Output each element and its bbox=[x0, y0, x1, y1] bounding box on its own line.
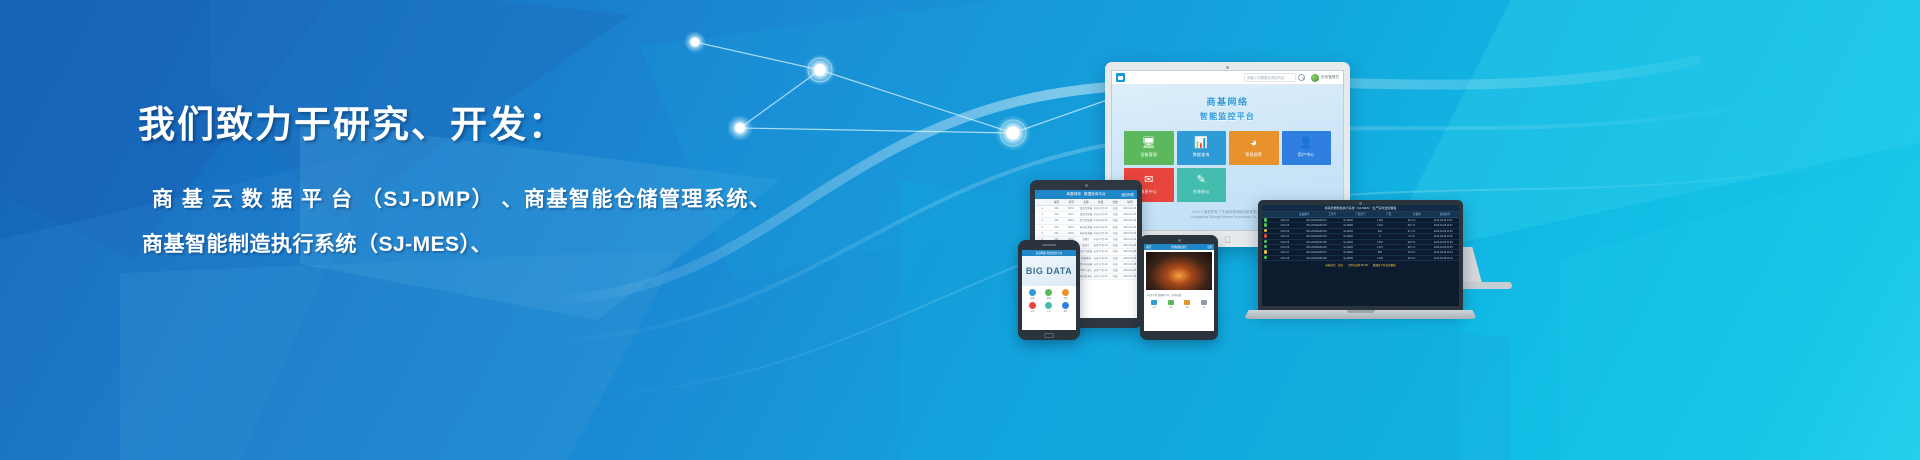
table-cell: 2016-04-28 11:24 bbox=[1427, 256, 1459, 260]
search-area[interactable]: 请输入您需要查询的内容 bbox=[1244, 73, 1305, 82]
table-cell: 电压监测器 bbox=[1079, 231, 1094, 236]
speaker-icon bbox=[1042, 244, 1056, 246]
app-icon-label: 消息 bbox=[1030, 310, 1034, 313]
table-cell: 2016-04-28 11:26 bbox=[1122, 225, 1137, 230]
table-cell: 99.2 % bbox=[1396, 218, 1428, 222]
column-header: 位置 bbox=[1093, 199, 1108, 205]
table-cell: 2016-04-28 11:25 bbox=[1427, 240, 1459, 244]
app-icon-user-icon[interactable]: 我的 bbox=[1058, 302, 1073, 313]
table-cell: MKC-201A01 bbox=[1064, 206, 1079, 211]
bell-icon bbox=[1062, 289, 1069, 296]
bell-icon bbox=[1184, 300, 1190, 305]
table-cell: 99.6 % bbox=[1396, 240, 1428, 244]
table-cell bbox=[1262, 240, 1269, 244]
laptop-mockup: 商基智能制造执行系统（SJ-MES） 生产实时监控看板 设备编号工单号产品型号产… bbox=[1258, 200, 1463, 325]
home-button-icon[interactable] bbox=[1044, 333, 1054, 338]
table-cell: 车间 B 区-02 bbox=[1093, 225, 1108, 230]
table-cell: 2016-04-28 11:25 bbox=[1122, 243, 1137, 248]
camera-icon bbox=[1226, 66, 1229, 69]
table-cell: 201-2016042802 bbox=[1050, 212, 1065, 217]
table-cell: 1,045 bbox=[1364, 256, 1396, 260]
table-cell: 1,164 bbox=[1364, 223, 1396, 227]
table-cell: 98.7 % bbox=[1396, 223, 1428, 227]
chart-icon bbox=[1045, 289, 1052, 296]
camera-icon bbox=[1178, 239, 1181, 242]
tile-label: 消息中心 bbox=[1140, 189, 1157, 195]
table-cell: 在线 bbox=[1108, 274, 1123, 279]
table-cell: 806 bbox=[1364, 250, 1396, 254]
table-cell: SJ-M420 bbox=[1332, 240, 1364, 244]
table-cell: 2016-04-28 11:24 bbox=[1122, 249, 1137, 254]
table-cell: WO-20160428-006 bbox=[1301, 245, 1333, 249]
table-cell: 在线 bbox=[1108, 268, 1123, 273]
table-cell: 在线 bbox=[1108, 237, 1123, 242]
table-cell: CNC-04 bbox=[1269, 234, 1301, 238]
tile-device-management[interactable]: 🖥 设备管理 bbox=[1124, 131, 1174, 165]
table-cell: 称重模块 bbox=[1079, 256, 1094, 261]
gear-icon bbox=[1201, 300, 1207, 305]
table-cell: 仓库 D 区-02 bbox=[1093, 249, 1108, 254]
table-cell: 2016-04-28 11:25 bbox=[1427, 245, 1459, 249]
table-cell: 4 bbox=[1035, 225, 1050, 230]
table-cell: 车间 A 区-02 bbox=[1093, 212, 1108, 217]
device-mockups: 请输入您需要查询的内容 系统管理员 商基网络 智能监控平台 🖥 设备管理 bbox=[1000, 0, 1920, 460]
table-cell: 0 bbox=[1364, 234, 1396, 238]
table-cell: 在线 bbox=[1108, 256, 1123, 261]
table-cell: 2016-04-28 11:24 bbox=[1122, 256, 1137, 261]
table-cell: 2016-04-28 11:23 bbox=[1122, 268, 1137, 273]
hero-banner: 我们致力于研究、开发： 商 基 云 数 据 平 台 （SJ-DMP） 、商基智能… bbox=[0, 0, 1920, 460]
app-title-line1: 商基网络 bbox=[1124, 95, 1331, 108]
table-cell: CNC-06 bbox=[1269, 245, 1301, 249]
tile-online-office[interactable]: ✎ 在线办公 bbox=[1177, 168, 1227, 202]
app-icon-play-icon[interactable]: 回放 bbox=[1163, 300, 1178, 309]
table-cell: WO-20160428-003 bbox=[1301, 229, 1333, 233]
column-header: 合格率 bbox=[1403, 212, 1431, 217]
table-cell: MKC-201A03 bbox=[1064, 218, 1079, 223]
table-cell: 2016-04-28 11:22 bbox=[1122, 274, 1137, 279]
table-cell: 1,337 bbox=[1364, 245, 1396, 249]
column-header: 编号 bbox=[1050, 199, 1065, 205]
table-cell bbox=[1262, 256, 1269, 260]
banner-copy: 我们致力于研究、开发： 商 基 云 数 据 平 台 （SJ-DMP） 、商基智能… bbox=[0, 0, 960, 460]
table-cell: 离线 bbox=[1108, 225, 1123, 230]
column-header: 名称 bbox=[1079, 199, 1094, 205]
pie-chart-icon: ◕ bbox=[1250, 138, 1257, 149]
table-cell: 2016-04-28 11:27 bbox=[1427, 218, 1459, 222]
table-cell: 车间 C 区-02 bbox=[1093, 237, 1108, 242]
table-cell: 在线 bbox=[1108, 262, 1123, 267]
table-cell: 2 bbox=[1035, 212, 1050, 217]
table-cell: 压力传感器 bbox=[1079, 218, 1094, 223]
user-name: 系统管理员 bbox=[1321, 75, 1339, 80]
app-tile-grid-row1: 🖥 设备管理 📊 数据查询 ◕ 警报报警 👤 bbox=[1124, 131, 1331, 165]
table-cell: 5 bbox=[1035, 231, 1050, 236]
column-header bbox=[1035, 199, 1050, 205]
table-cell: CNC-02 bbox=[1269, 223, 1301, 227]
grid-icon[interactable] bbox=[1116, 73, 1125, 82]
column-header: 时间 bbox=[1122, 199, 1137, 205]
table-cell: 流量计 bbox=[1079, 237, 1094, 242]
app-icon-label: 数据 bbox=[1047, 297, 1051, 300]
table-cell: MKC-201A05 bbox=[1064, 231, 1079, 236]
table-cell: WO-20160428-008 bbox=[1301, 256, 1333, 260]
app-icon-bell-icon[interactable]: 警报 bbox=[1058, 289, 1073, 300]
table-cell: 环境监测仪 bbox=[1079, 274, 1094, 279]
table-cell: 1,280 bbox=[1364, 218, 1396, 222]
table-cell: SJ-M420 bbox=[1332, 245, 1364, 249]
table-cell bbox=[1262, 245, 1269, 249]
envelope-icon: ✉ bbox=[1144, 175, 1153, 186]
table-cell: 96.8 % bbox=[1396, 250, 1428, 254]
monitor-icon bbox=[1029, 289, 1036, 296]
table-cell: CNC-01 bbox=[1269, 218, 1301, 222]
table-cell bbox=[1262, 223, 1269, 227]
app-icon-label: 办公 bbox=[1047, 310, 1051, 313]
table-cell: CNC-05 bbox=[1269, 240, 1301, 244]
table-cell: 在线 bbox=[1108, 206, 1123, 211]
app-icon-label: 监控 bbox=[1153, 306, 1157, 309]
table-cell: 2016-04-28 11:25 bbox=[1122, 237, 1137, 242]
table-cell: MKC-201A02 bbox=[1064, 212, 1079, 217]
tile-user-center[interactable]: 👤 用户中心 bbox=[1282, 131, 1332, 165]
table-cell: 1,502 bbox=[1364, 240, 1396, 244]
tablet-titlebar: 商基网络 · 数据查询平台 返回列表 bbox=[1035, 190, 1137, 199]
table-cell: CNC-08 bbox=[1269, 256, 1301, 260]
status-badge bbox=[1264, 234, 1268, 238]
table-cell bbox=[1262, 250, 1269, 254]
user-icon: 👤 bbox=[1299, 138, 1313, 149]
table-cell: 车间 C 区-01 bbox=[1093, 231, 1108, 236]
webapp-header: 请输入您需要查询的内容 系统管理员 bbox=[1112, 71, 1343, 85]
product-line-1: 商 基 云 数 据 平 台 （SJ-DMP） 、商基智能仓储管理系统、 bbox=[152, 183, 772, 213]
tile-alarm[interactable]: ◕ 警报报警 bbox=[1229, 131, 1279, 165]
table-cell bbox=[1262, 229, 1269, 233]
table-cell: SJ-M200 bbox=[1332, 218, 1364, 222]
chart-bar-icon: 📊 bbox=[1194, 138, 1208, 149]
table-cell: SJ-M500 bbox=[1332, 250, 1364, 254]
table-cell: 201-2016042805 bbox=[1050, 231, 1065, 236]
edit-icon: ✎ bbox=[1197, 175, 1206, 186]
monitor-icon: 🖥 bbox=[1142, 138, 1156, 149]
video-titlebar: 返回 现场视频监控 全屏 bbox=[1144, 244, 1214, 250]
table-cell: 仓库 E 区-02 bbox=[1093, 262, 1108, 267]
table-cell: SJ-M500 bbox=[1332, 256, 1364, 260]
phone-hero: BIG DATA bbox=[1022, 256, 1076, 286]
app-icon-monitor-icon[interactable]: 设备 bbox=[1025, 289, 1040, 300]
table-cell: 仓库 F 区-02 bbox=[1093, 274, 1108, 279]
table-cell: 2016-04-28 11:26 bbox=[1122, 231, 1137, 236]
product-line-2: 商基智能制造执行系统（SJ-MES）、 bbox=[142, 228, 492, 258]
mes-titlebar: 商基智能制造执行系统（SJ-MES） 生产实时监控看板 bbox=[1262, 205, 1459, 212]
table-cell: 车间 B 区-01 bbox=[1093, 218, 1108, 223]
table-cell: SJ-M200 bbox=[1332, 223, 1364, 227]
table-cell: 2016-04-28 11:27 bbox=[1122, 218, 1137, 223]
back-button[interactable]: 返回列表 bbox=[1121, 192, 1134, 197]
app-icon-label: 我的 bbox=[1064, 310, 1068, 313]
tile-label: 警报报警 bbox=[1245, 152, 1262, 158]
table-cell: 在线 bbox=[1108, 218, 1123, 223]
phone-app-grid: 设备数据警报消息办公我的 bbox=[1022, 286, 1076, 316]
tablet-video-screen: 返回 现场视频监控 全屏 车间 A 区 摄像机 01 · 实时画面 监控回放报警… bbox=[1144, 244, 1214, 331]
user-icon bbox=[1062, 302, 1069, 309]
edit-icon bbox=[1045, 302, 1052, 309]
column-header bbox=[1262, 212, 1290, 217]
tile-label: 在线办公 bbox=[1193, 189, 1210, 195]
search-icon[interactable] bbox=[1298, 74, 1305, 81]
status-badge bbox=[1264, 256, 1268, 260]
table-cell: 2016-04-28 11:26 bbox=[1427, 229, 1459, 233]
status-badge bbox=[1264, 250, 1268, 254]
app-icon-bell-icon[interactable]: 报警 bbox=[1180, 300, 1195, 309]
tablet-video-mockup: 返回 现场视频监控 全屏 车间 A 区 摄像机 01 · 实时画面 监控回放报警… bbox=[1140, 235, 1218, 340]
table-cell: WO-20160428-007 bbox=[1301, 250, 1333, 254]
tile-label: 设备管理 bbox=[1140, 152, 1157, 158]
column-header: 设备编号 bbox=[1290, 212, 1318, 217]
play-icon bbox=[1168, 300, 1174, 305]
app-icon-label: 报警 bbox=[1185, 306, 1189, 309]
table-cell: 温度传感器 bbox=[1079, 206, 1094, 211]
avatar bbox=[1311, 74, 1319, 82]
phone-screen: 商基网络 智能监控平台 BIG DATA 设备数据警报消息办公我的 bbox=[1022, 250, 1076, 330]
table-cell: SJ-M310 bbox=[1332, 234, 1364, 238]
table-cell: WO-20160428-004 bbox=[1301, 234, 1333, 238]
table-cell: WO-20160428-002 bbox=[1301, 223, 1333, 227]
laptop-trackpad-notch bbox=[1347, 310, 1375, 313]
column-header: 工单号 bbox=[1318, 212, 1346, 217]
table-cell: 942 bbox=[1364, 229, 1396, 233]
envelope-icon bbox=[1029, 302, 1036, 309]
app-title-line2: 智能监控平台 bbox=[1124, 111, 1331, 122]
table-cell: 201-2016042801 bbox=[1050, 206, 1065, 211]
table-cell bbox=[1262, 218, 1269, 222]
table-cell: 201-2016042804 bbox=[1050, 225, 1065, 230]
table-cell: CNC-07 bbox=[1269, 250, 1301, 254]
status-badge bbox=[1264, 223, 1268, 227]
table-cell: 0.0 % bbox=[1396, 234, 1428, 238]
table-cell: 仓库 E 区-01 bbox=[1093, 256, 1108, 261]
table-cell: 在线 bbox=[1108, 249, 1123, 254]
page-title: 我们致力于研究、开发： bbox=[138, 94, 567, 148]
table-cell: 97.4 % bbox=[1396, 229, 1428, 233]
table-cell: 98.3 % bbox=[1396, 256, 1428, 260]
table-cell: 在线 bbox=[1108, 212, 1123, 217]
titlebar-text: 现场视频监控 bbox=[1171, 245, 1187, 249]
table-cell: 湿度传感器 bbox=[1079, 212, 1094, 217]
laptop-screen: 商基智能制造执行系统（SJ-MES） 生产实时监控看板 设备编号工单号产品型号产… bbox=[1262, 205, 1459, 306]
status-badge bbox=[1264, 240, 1268, 244]
column-header: 更新时间 bbox=[1431, 212, 1459, 217]
table-cell: WO-20160428-001 bbox=[1301, 218, 1333, 222]
table-header: 编号型号名称位置状态时间 bbox=[1035, 199, 1137, 206]
app-icon-envelope-icon[interactable]: 消息 bbox=[1025, 302, 1040, 313]
tile-data-query[interactable]: 📊 数据查询 bbox=[1177, 131, 1227, 165]
column-header: 产品型号 bbox=[1346, 212, 1374, 217]
table-cell: 2016-04-28 11:27 bbox=[1122, 212, 1137, 217]
column-header: 型号 bbox=[1064, 199, 1079, 205]
app-icon-chart-icon[interactable]: 数据 bbox=[1042, 289, 1057, 300]
table-cell: 仓库 D 区-01 bbox=[1093, 243, 1108, 248]
camera-icon bbox=[1359, 202, 1362, 205]
app-icon-label: 设置 bbox=[1202, 306, 1206, 309]
tile-label: 数据查询 bbox=[1193, 152, 1210, 158]
table-cell: 1 bbox=[1035, 206, 1050, 211]
table-cell: 2016-04-28 11:23 bbox=[1122, 262, 1137, 267]
app-icon-label: 警报 bbox=[1064, 297, 1068, 300]
table-cell: 3 bbox=[1035, 218, 1050, 223]
table-cell: 2016-04-28 11:26 bbox=[1427, 234, 1459, 238]
table-cell: 条码扫描器 bbox=[1079, 262, 1094, 267]
app-tile-grid-row2: ✉ 消息中心 ✎ 在线办公 bbox=[1124, 168, 1331, 202]
table-cell: 液位计 bbox=[1079, 243, 1094, 248]
camera-icon bbox=[1151, 300, 1157, 305]
back-button[interactable]: 返回 bbox=[1146, 245, 1151, 249]
status-badge bbox=[1264, 218, 1268, 222]
table-cell: 2016-04-28 11:27 bbox=[1427, 223, 1459, 227]
status-badge bbox=[1264, 245, 1268, 249]
table-cell: 201-2016042803 bbox=[1050, 218, 1065, 223]
video-app-grid: 监控回放报警设置 bbox=[1144, 298, 1214, 311]
app-icon-edit-icon[interactable]: 办公 bbox=[1042, 302, 1057, 313]
table-cell: 2016-04-28 11:27 bbox=[1122, 206, 1137, 211]
table-cell: 电流监测器 bbox=[1079, 225, 1094, 230]
table-cell: 仓库 F 区-01 bbox=[1093, 268, 1108, 273]
user-menu[interactable]: 系统管理员 bbox=[1311, 74, 1339, 82]
table-cell: 2016-04-28 11:24 bbox=[1427, 250, 1459, 254]
table-cell bbox=[1262, 234, 1269, 238]
table-cell: 99.1 % bbox=[1396, 245, 1428, 249]
table-cell: RFID 读头 bbox=[1079, 268, 1094, 273]
table-cell: 车间 A 区-01 bbox=[1093, 206, 1108, 211]
mes-footer: 当前班次：白班 计划完成率 96.4% 数据每 5 秒自动刷新 bbox=[1262, 261, 1459, 268]
table-cell: WO-20160428-005 bbox=[1301, 240, 1333, 244]
video-player[interactable] bbox=[1146, 252, 1212, 290]
app-icon-label: 回放 bbox=[1169, 306, 1173, 309]
table-cell: 在线 bbox=[1108, 231, 1123, 236]
table-cell: SJ-M310 bbox=[1332, 229, 1364, 233]
laptop-lid: 商基智能制造执行系统（SJ-MES） 生产实时监控看板 设备编号工单号产品型号产… bbox=[1258, 200, 1463, 312]
column-header: 状态 bbox=[1108, 199, 1123, 205]
table-cell: CNC-03 bbox=[1269, 229, 1301, 233]
status-badge bbox=[1264, 229, 1268, 233]
table-cell: MKC-201A04 bbox=[1064, 225, 1079, 230]
search-input[interactable]: 请输入您需要查询的内容 bbox=[1244, 73, 1296, 82]
titlebar-text: 商基网络 · 数据查询平台 bbox=[1066, 192, 1105, 197]
table-body: CNC-01WO-20160428-001SJ-M2001,28099.2 %2… bbox=[1262, 218, 1459, 261]
app-icon-camera-icon[interactable]: 监控 bbox=[1147, 300, 1162, 309]
column-header: 产量 bbox=[1375, 212, 1403, 217]
table-cell: 在线 bbox=[1108, 243, 1123, 248]
tile-label: 用户中心 bbox=[1298, 152, 1315, 158]
table-cell: 红外计数器 bbox=[1079, 249, 1094, 254]
camera-icon bbox=[1085, 184, 1088, 187]
phone-mockup: 商基网络 智能监控平台 BIG DATA 设备数据警报消息办公我的 bbox=[1018, 240, 1080, 340]
fullscreen-button[interactable]: 全屏 bbox=[1207, 245, 1212, 249]
app-icon-label: 设备 bbox=[1030, 297, 1034, 300]
app-icon-gear-icon[interactable]: 设置 bbox=[1196, 300, 1211, 309]
